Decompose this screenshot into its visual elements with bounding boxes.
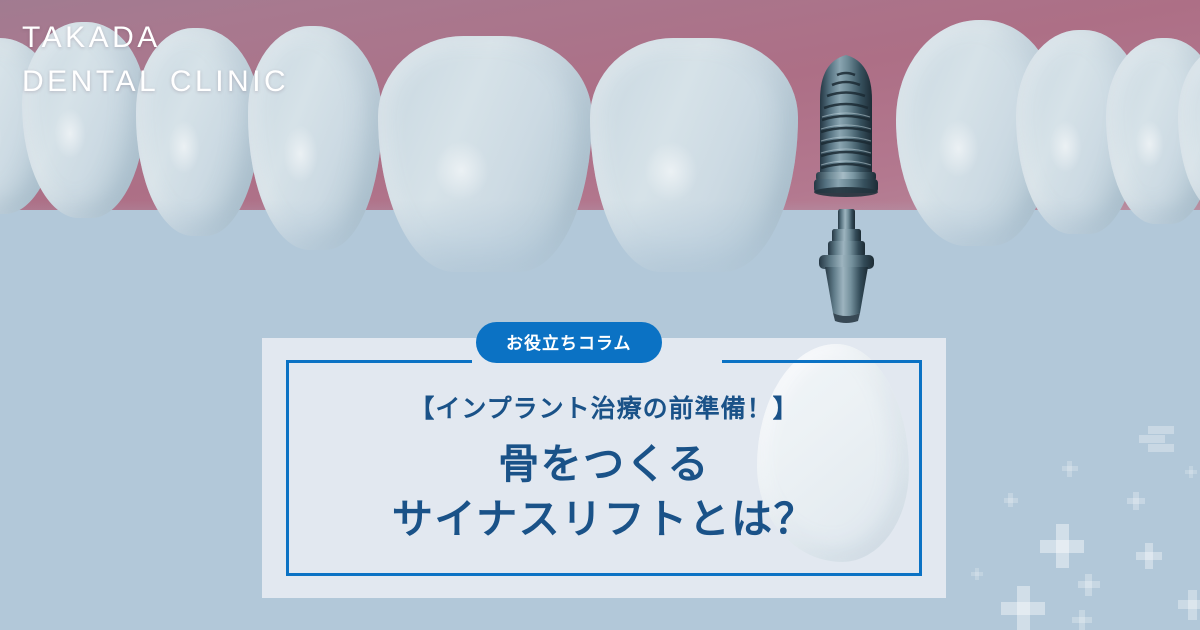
plus-icon (1079, 610, 1085, 630)
plus-icon (1133, 492, 1139, 510)
card-headline-line-2: サイナスリフトとは？ (392, 492, 816, 547)
card-eyebrow: 【インプラント治療の前準備！】 (409, 389, 798, 425)
plus-icon (1189, 466, 1193, 478)
plus-icon (1067, 461, 1072, 477)
implant-abutment-icon (806, 205, 886, 323)
plus-icon (1017, 586, 1030, 630)
brand-logo: TAKADA DENTAL CLINIC (22, 16, 289, 103)
banner-root: TAKADA DENTAL CLINIC 【インプラント治療の前準備！】 骨をつ… (0, 0, 1200, 630)
brand-line-1: TAKADA (22, 16, 289, 60)
plus-icon (1145, 543, 1153, 569)
plus-icon (1085, 574, 1092, 596)
brand-line-2: DENTAL CLINIC (22, 60, 289, 104)
column-badge: お役立ちコラム (476, 322, 662, 363)
card-headline-line-1: 骨をつくる (498, 437, 710, 492)
tooth (378, 36, 592, 272)
plus-icon (1188, 590, 1197, 620)
implant-screw-icon (810, 52, 882, 200)
content-card: 【インプラント治療の前準備！】 骨をつくる サイナスリフトとは？ (262, 338, 946, 598)
tooth (590, 38, 798, 272)
plus-icon (1008, 493, 1013, 507)
plus-icon (1139, 435, 1165, 443)
card-text-block: 【インプラント治療の前準備！】 骨をつくる サイナスリフトとは？ (262, 338, 946, 598)
plus-icon (975, 568, 979, 580)
plus-icon (1056, 524, 1069, 568)
